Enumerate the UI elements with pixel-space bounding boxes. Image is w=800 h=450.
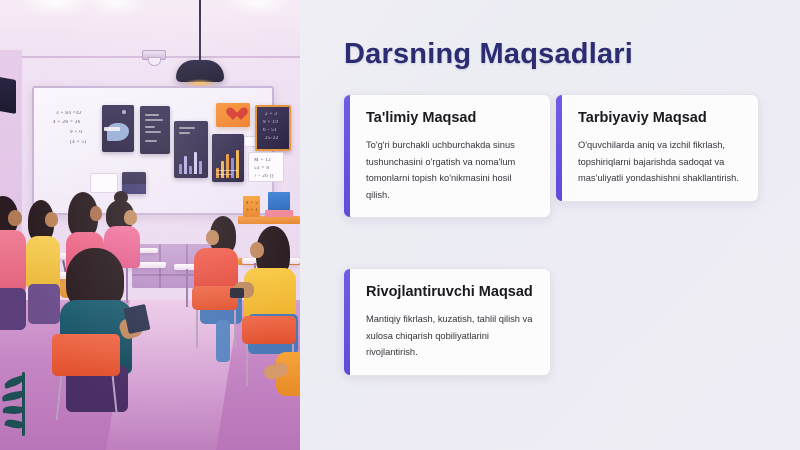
classroom-illustration: 3 + 84 =42 4 + 28 = 36 9 + 0 (4 + 5) — [0, 0, 300, 450]
goal-card-body: O'quvchilarda aniq va izchil fikrlash, t… — [578, 137, 741, 187]
wall-speaker — [0, 76, 16, 114]
whiteboard-equation-1: 3 + 84 =42 — [56, 110, 82, 118]
poster-equation-3: 6 - 51 — [263, 127, 277, 135]
poster-equations-dark: 2 + 3 9 + 19 6 - 51 25-22 — [255, 105, 291, 151]
student-legs — [28, 284, 60, 324]
student-body — [0, 230, 26, 292]
student-phone — [230, 288, 244, 298]
poster-equation-1: 2 + 3 — [265, 111, 277, 119]
student-head — [45, 212, 58, 227]
student-head — [124, 210, 137, 225]
goal-card-title: Ta'limiy Maqsad — [366, 109, 533, 128]
poster-heart — [216, 103, 250, 127]
poster-equation-2: 9 + 19 — [263, 119, 278, 127]
student-body — [26, 236, 60, 288]
foreground-plant — [2, 368, 48, 440]
plant-stem — [22, 372, 25, 436]
goal-card-rivojlantiruvchi[interactable]: Rivojlantiruvchi Maqsad Mantiqiy fikrlas… — [343, 268, 551, 376]
note-equation-1: M + 12 — [254, 157, 271, 165]
student-head — [250, 242, 264, 258]
student-legs — [0, 288, 26, 330]
slide-root: 3 + 84 =42 4 + 28 = 36 9 + 0 (4 + 5) — [0, 0, 800, 450]
chair-back — [242, 316, 296, 344]
chair-leg — [196, 310, 198, 348]
whiteboard: 3 + 84 =42 4 + 28 = 36 9 + 0 (4 + 5) — [32, 86, 274, 215]
book-stack-pink — [265, 210, 293, 217]
chair-leg — [246, 344, 248, 386]
content-panel: Darsning Maqsadlari Ta'limiy Maqsad To'g… — [300, 0, 800, 450]
lamp-cord — [199, 0, 201, 62]
desk-leg — [186, 269, 188, 307]
desk-leg — [126, 267, 128, 303]
note-equation-2: 53 = 8 — [254, 165, 269, 173]
poster-blank-1 — [90, 173, 118, 193]
goal-card-body: Mantiqiy fikrlash, kuzatish, tahlil qili… — [366, 311, 533, 361]
goal-card-body: To'g'ri burchakli uchburchakda sinus tus… — [366, 137, 533, 203]
book-orange: 4 + 2 3 + 1 — [243, 196, 260, 217]
chair-back — [52, 334, 120, 376]
whiteboard-equation-4: (4 + 5) — [70, 139, 86, 147]
whiteboard-equation-2: 4 + 28 = 36 — [53, 119, 81, 127]
student-leg-lower — [216, 320, 230, 362]
book-equation-2: 3 + 1 — [246, 207, 258, 215]
shelf-upper — [238, 216, 300, 224]
poster-image-moon — [102, 105, 134, 152]
goal-card-title: Tarbiyaviy Maqsad — [578, 109, 741, 128]
note-equation-3: 7 - 26 () — [254, 173, 274, 181]
poster-equation-4: 25-22 — [265, 135, 279, 143]
poster-bar-chart-colored — [212, 134, 244, 182]
student-head — [90, 206, 102, 221]
poster-text-block-1 — [140, 106, 170, 154]
student-head — [8, 210, 22, 226]
poster-notes-white: M + 12 53 = 8 7 - 26 () — [248, 152, 284, 182]
goal-card-title: Rivojlantiruvchi Maqsad — [366, 283, 533, 302]
whiteboard-equation-3: 9 + 0 — [70, 129, 82, 137]
chair-leg — [234, 310, 236, 348]
poster-chart-dark — [174, 121, 208, 178]
goal-card-talimiy[interactable]: Ta'limiy Maqsad To'g'ri burchakli uchbur… — [343, 94, 551, 218]
heart-icon — [225, 107, 241, 122]
poster-blank-2 — [122, 172, 146, 194]
goal-card-tarbiyaviy[interactable]: Tarbiyaviy Maqsad O'quvchilarda aniq va … — [555, 94, 759, 202]
student-head — [206, 230, 219, 245]
page-title: Darsning Maqsadlari — [344, 38, 633, 71]
